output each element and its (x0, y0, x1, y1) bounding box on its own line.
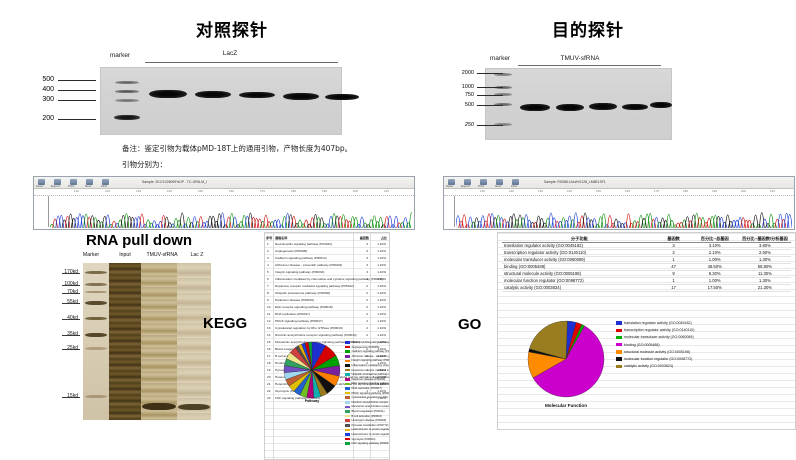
kegg-legend-label: Integrin signaling pathway (P00034) (352, 359, 391, 362)
kegg-legend-swatch (345, 373, 350, 376)
kegg-legend-item: Huntington disease (P00029) (345, 419, 386, 422)
go-cell-gene-count: 1 (657, 278, 691, 285)
kegg-legend-label: Huntington disease (P00029) (352, 419, 387, 422)
panel-target-probe-gel: 目的探针 marker TMUV-sfRNA 2000 1000 750 500… (440, 0, 796, 160)
kegg-legend-swatch (345, 392, 350, 395)
target-sample-band-2 (556, 104, 584, 111)
chromatogram-tick-label: 190 (712, 189, 717, 193)
control-ladder-band-400 (115, 90, 139, 93)
go-cell-pct-total: 1.00% (691, 278, 739, 285)
chromatogram-tick-label: 160 (229, 189, 234, 193)
chromatogram-tick-label: 110 (480, 189, 485, 193)
kegg-legend-label: Heterotrimeric G-protein signaling pathw… (352, 433, 391, 436)
sds-marker-line-40 (62, 319, 80, 320)
kegg-legend-item: Neurotrophin signaling pathway (P04044) (345, 341, 390, 344)
kegg-cell-pct: 1.10% (369, 312, 386, 316)
chromatogram-right-trace (456, 195, 792, 228)
kegg-cell-count: 3 (354, 270, 368, 274)
go-table-row: binding (GO:0005488)4748.50%58.80% (502, 264, 791, 271)
target-ladder-label-500: 500 (448, 102, 474, 108)
sds-page-gel-image (83, 263, 211, 420)
target-ladder-label-1000: 1000 (448, 84, 474, 90)
panel-rna-pull-down: RNA pull down Marker Input TMUV-sfRNA La… (60, 230, 275, 458)
sds-lane-input (109, 263, 141, 420)
kegg-legend-label: Nicotinic acetylcholine receptor signali… (352, 401, 391, 404)
sds-marker-label-15: 15kd (52, 393, 78, 399)
panel-go-analysis[interactable]: 分子功能 基因数 百分比--总基因 百分比--基因数/分析基因 translat… (497, 232, 796, 430)
kegg-table-row: 5Integrin signaling pathway (P00034)31.1… (265, 269, 389, 276)
chromatogram-left[interactable]: Open Export Print Next Find Sample: 2017… (33, 176, 415, 230)
go-legend-item: translation regulator activity (GO:00451… (616, 321, 692, 325)
kegg-cell-count: 2 (354, 298, 368, 302)
kegg-cell-count: 3 (354, 256, 368, 260)
kegg-table-row: 4Alzheimer disease - presenilin pathway … (265, 262, 389, 269)
kegg-legend-item: Integrin signaling pathway (P00034) (345, 359, 390, 362)
chromatogram-right-y-axis (454, 196, 455, 227)
go-table-row: catalytic activity (GO:0003824)1717.50%2… (502, 285, 791, 292)
kegg-cell-index: 4 (267, 263, 269, 267)
kegg-cell-pct: 1.10% (369, 270, 386, 274)
kegg-cell-index: 13 (267, 326, 270, 330)
kegg-cell-pct: 1.10% (369, 256, 386, 260)
kegg-table-row: 6Inflammation mediated by chemokine and … (265, 276, 389, 283)
go-legend-item: molecular transducer activity (GO:006008… (616, 335, 694, 339)
sds-marker-band-100 (85, 283, 107, 286)
kegg-cell-index: 17 (267, 354, 270, 358)
kegg-legend-swatch (345, 364, 350, 367)
kegg-legend-label: Ubiquitin proteasome pathway (P00060) (352, 373, 391, 376)
kegg-cell-index: 10 (267, 305, 270, 309)
chromatogram-tick-label: 150 (596, 189, 601, 193)
sds-marker-line-170 (62, 273, 80, 274)
sds-lacz-band-low (178, 404, 210, 410)
sds-lane-lacz (177, 263, 211, 420)
control-sample-band-2 (195, 91, 231, 98)
kegg-cell-count: 3 (354, 277, 368, 281)
target-ladder-label-750: 750 (448, 92, 474, 98)
kegg-legend-item: Angiogenesis (P00005) (345, 346, 379, 349)
kegg-cell-pct: 1.10% (369, 249, 386, 253)
sds-marker-label-100: 100kd (52, 281, 78, 287)
kegg-cell-index: 18 (267, 361, 270, 365)
panel-control-probe-gel: 对照探针 marker LacZ 500 400 300 200 (0, 0, 430, 160)
kegg-legend-label: Cytoskeletal regulation by Rho GTPase (P… (352, 396, 391, 399)
go-cell-pct-total: 48.50% (691, 264, 739, 271)
go-table-row: transcription regulator activity (GO:014… (502, 250, 791, 257)
kegg-cell-index: 1 (267, 242, 269, 246)
control-gel-sample-label: LacZ (205, 50, 255, 57)
sds-marker-label-40: 40kd (52, 315, 78, 321)
sds-marker-band-15 (85, 395, 107, 398)
kegg-cell-index: 15 (267, 340, 270, 344)
sds-marker-band-70 (85, 291, 107, 293)
go-legend-label: molecular function regulator (GO:0098772… (624, 357, 692, 361)
kegg-cell-name: Ubiquitin proteasome pathway (P00060) (275, 291, 330, 295)
kegg-cell-index: 22 (267, 389, 270, 393)
go-legend-label: translation regulator activity (GO:00451… (624, 321, 692, 325)
kegg-legend-label: Muscarinic acetylcholine receptor signal… (352, 405, 391, 408)
control-ladder-line-300 (58, 100, 96, 101)
kegg-cell-name: Neurotrophin signaling pathway (P04044) (275, 242, 332, 246)
control-ladder-line-200 (58, 119, 96, 120)
kegg-legend-item: Dopamine receptor mediated signaling pat… (345, 369, 390, 372)
go-cell-function: translation regulator activity (GO:00451… (502, 243, 657, 250)
panel-kegg-analysis[interactable]: 序号 通路名称 基因数 占比 1Neurotrophin signaling p… (264, 232, 390, 460)
kegg-cell-pct: 1.10% (369, 326, 386, 330)
chromatogram-tick-label: 120 (105, 189, 110, 193)
kegg-cell-index: 2 (267, 249, 269, 253)
chromatogram-left-sample-name: Sample: 20171026099%GP - TC-GRN-M_I (142, 180, 207, 184)
chromatogram-tick-label: 160 (625, 189, 630, 193)
chromatogram-tick-label: 210 (770, 189, 775, 193)
kegg-cell-name: Alzheimer disease - presenilin pathway (… (275, 263, 342, 267)
kegg-legend-item: B cell activation (P00010) (345, 415, 382, 418)
kegg-legend-swatch (345, 406, 350, 409)
control-ladder-band-500 (115, 81, 139, 84)
kegg-legend-swatch (345, 341, 350, 344)
sds-lane-label-tmuv-sfrna: TMUV-sfRNA (140, 252, 184, 258)
kegg-legend-item: Pyruvate metabolism (P02772) (345, 424, 388, 427)
target-ladder-line-250 (477, 125, 503, 126)
go-cell-gene-count: 17 (657, 285, 691, 292)
go-cell-function: molecular function regulator (GO:0098772… (502, 278, 657, 285)
target-ladder-label-250: 250 (448, 122, 474, 128)
go-legend-label: transcription regulator activity (GO:014… (624, 328, 694, 332)
sds-lane-label-input: Input (112, 252, 138, 258)
target-probe-title: 目的探针 (552, 16, 624, 41)
kegg-cell-count: 4 (354, 242, 368, 246)
kegg-header-name: 通路名称 (275, 235, 287, 240)
kegg-cell-index: 3 (267, 256, 269, 260)
kegg-legend-label: FGF signaling pathway (P00021) (352, 442, 391, 445)
kegg-legend-item: Heterotrimeric G-protein signaling pathw… (345, 428, 390, 431)
kegg-legend-swatch (345, 346, 350, 349)
kegg-cell-index: 9 (267, 298, 269, 302)
sds-marker-label-55: 55kd (52, 299, 78, 305)
kegg-cell-count: 2 (354, 333, 368, 337)
control-ladder-label-500: 500 (30, 76, 54, 83)
chromatogram-tick-label: 180 (291, 189, 296, 193)
target-gel-image (485, 68, 672, 140)
control-gel-sample-underline (145, 62, 338, 63)
go-cell-function: binding (GO:0005488) (502, 264, 657, 271)
chromatogram-left-trace (50, 195, 412, 228)
kegg-table-row: 14Nicotinic acetylcholine receptor signa… (265, 332, 389, 339)
kegg-header-pct: 占比 (371, 235, 387, 240)
kegg-table-row: 7Dopamine receptor mediated signaling pa… (265, 283, 389, 290)
kegg-legend-swatch (345, 433, 350, 436)
kegg-cell-index: 21 (267, 382, 270, 386)
kegg-legend-item: Heterotrimeric G-protein signaling pathw… (345, 433, 390, 436)
sds-marker-label-35: 35kd (52, 331, 78, 337)
kegg-legend-label: Angiogenesis (P00005) (352, 346, 380, 349)
kegg-cell-pct: 1.10% (369, 305, 386, 309)
go-pie-caption: Molecular Function (516, 403, 616, 408)
chromatogram-tick-label: 200 (353, 189, 358, 193)
target-gel-marker-label: marker (480, 55, 520, 62)
go-cell-pct-analyzed: 2.50% (739, 250, 791, 257)
kegg-cell-count: 2 (354, 319, 368, 323)
kegg-legend-swatch (345, 396, 350, 399)
target-sample-band-4 (622, 104, 648, 110)
kegg-cell-pct: 1.10% (369, 284, 386, 288)
go-table-row: translation regulator activity (GO:00451… (502, 243, 791, 250)
go-legend-item: transcription regulator activity (GO:014… (616, 328, 694, 332)
chromatogram-tick-label: 140 (167, 189, 172, 193)
target-ladder-line-2000 (477, 73, 503, 74)
kegg-legend-swatch (345, 415, 350, 418)
kegg-cell-name: DNA replication (P00017) (275, 312, 310, 316)
target-sample-band-5 (650, 102, 672, 108)
rna-pull-down-title: RNA pull down (86, 232, 192, 249)
go-cell-gene-count: 47 (657, 264, 691, 271)
go-cell-pct-total: 3.10% (691, 243, 739, 250)
kegg-cell-name: Dopamine receptor mediated signaling pat… (275, 284, 354, 288)
go-cell-pct-analyzed: 58.80% (739, 264, 791, 271)
kegg-header-index: 序号 (266, 235, 272, 240)
go-legend-swatch (616, 329, 622, 332)
kegg-legend-item: DNA replication (P00017) (345, 387, 382, 390)
sds-marker-line-25 (62, 349, 80, 350)
control-ladder-label-300: 300 (30, 96, 54, 103)
kegg-table-row: 11DNA replication (P00017)21.10% (265, 311, 389, 318)
control-gel-image (100, 67, 342, 135)
go-cell-pct-total: 9.30% (691, 271, 739, 278)
go-legend-label: molecular transducer activity (GO:006008… (624, 335, 694, 339)
go-cell-pct-analyzed: 1.30% (739, 278, 791, 285)
figure-caption-line2: 引物分别为： (122, 159, 167, 170)
kegg-cell-index: 20 (267, 375, 270, 379)
target-ladder-label-2000: 2000 (448, 70, 474, 76)
chromatogram-tick-label: 130 (538, 189, 543, 193)
kegg-legend-swatch (345, 438, 350, 441)
go-cell-function: molecular transducer activity (GO:006008… (502, 257, 657, 264)
go-table-row: molecular function regulator (GO:0098772… (502, 278, 791, 285)
go-legend-swatch (616, 357, 622, 360)
kegg-legend-item: Blood coagulation (P00011) (345, 410, 384, 413)
chromatogram-tick-label: 170 (654, 189, 659, 193)
control-ladder-band-200 (114, 115, 140, 120)
chromatogram-tick-label: 170 (260, 189, 265, 193)
target-gel-sample-label: TMUV-sfRNA (545, 55, 615, 62)
chromatogram-left-y-axis (48, 196, 49, 227)
chromatogram-tick-label: 110 (74, 189, 79, 193)
go-cell-pct-analyzed: 1.30% (739, 257, 791, 264)
kegg-cell-index: 12 (267, 319, 270, 323)
go-cell-function: catalytic activity (GO:0003824) (502, 285, 657, 292)
kegg-legend-label: Neurotrophin signaling pathway (P04044) (352, 341, 391, 344)
kegg-legend-item: PDGF signaling pathway (P00047) (345, 392, 390, 395)
control-probe-title: 对照探针 (196, 16, 268, 41)
kegg-cell-pct: 1.10% (369, 277, 386, 281)
control-sample-band-1 (149, 90, 187, 98)
kegg-legend-label: Pyruvate metabolism (P02772) (352, 424, 389, 427)
control-sample-band-3 (239, 92, 275, 98)
sds-marker-label-25: 25kd (52, 345, 78, 351)
chromatogram-tick-label: 120 (509, 189, 514, 193)
figure-caption-line1: 备注：鉴定引物为载体pMD-18T上的通用引物，产物长度为407bp。 (122, 143, 352, 154)
kegg-legend-label: Parkinson disease (P00049) (352, 378, 386, 381)
kegg-legend-item: FGF signaling pathway (P00021) (345, 442, 390, 445)
kegg-legend-swatch (345, 429, 350, 432)
kegg-table-row: 1Neurotrophin signaling pathway (P04044)… (265, 241, 389, 248)
target-ladder-line-750 (477, 95, 503, 96)
control-ladder-label-200: 200 (30, 115, 54, 122)
go-legend-swatch (616, 365, 622, 368)
kegg-cell-name: Parkinson disease (P00049) (275, 298, 314, 302)
sds-marker-line-35 (62, 335, 80, 336)
control-sample-band-4 (283, 93, 319, 100)
kegg-table-row: 2Angiogenesis (P00005)41.10% (265, 248, 389, 255)
go-cell-pct-analyzed: 3.80% (739, 243, 791, 250)
control-ladder-line-400 (58, 90, 96, 91)
kegg-legend-swatch (345, 355, 350, 358)
kegg-legend-item: EGF receptor signaling pathway (P00018) (345, 382, 390, 385)
kegg-cell-index: 8 (267, 291, 269, 295)
target-ladder-line-500 (477, 105, 503, 106)
kegg-legend-swatch (345, 410, 350, 413)
go-legend-swatch (616, 343, 622, 346)
go-cell-function: structural molecule activity (GO:0005198… (502, 271, 657, 278)
chromatogram-tick-label: 210 (384, 189, 389, 193)
kegg-legend-swatch (345, 378, 350, 381)
go-label: GO (458, 316, 481, 333)
sds-lane-marker (83, 263, 109, 420)
kegg-table-row: 8Ubiquitin proteasome pathway (P00060)21… (265, 290, 389, 297)
kegg-cell-index: 5 (267, 270, 269, 274)
sds-lane-label-lacz: Lac Z (184, 252, 210, 258)
sds-marker-line-70 (62, 293, 80, 294)
kegg-legend-item: Cadherin signaling pathway (P00012) (345, 350, 390, 353)
kegg-legend-swatch (345, 360, 350, 363)
kegg-table-row: 13Cytoskeletal regulation by Rho GTPase … (265, 325, 389, 332)
go-cell-pct-total: 2.10% (691, 250, 739, 257)
kegg-table-header: 序号 通路名称 基因数 占比 (265, 234, 389, 241)
go-cell-pct-total: 1.00% (691, 257, 739, 264)
go-cell-gene-count: 2 (657, 250, 691, 257)
sds-marker-label-70: 70kd (52, 289, 78, 295)
kegg-legend-label: B cell activation (P00010) (352, 415, 382, 418)
go-legend-item: molecular function regulator (GO:0098772… (616, 357, 692, 361)
kegg-legend-swatch (345, 401, 350, 404)
kegg-label: KEGG (203, 315, 247, 332)
control-ladder-line-500 (58, 80, 96, 81)
sds-marker-band-25 (85, 347, 107, 350)
chromatogram-right-sample-name: Sample: RS088-1b1sfV0128_LM8E1SF1 (544, 180, 606, 184)
kegg-cell-index: 14 (267, 333, 270, 337)
kegg-legend-item: Muscarinic acetylcholine receptor signal… (345, 405, 390, 408)
kegg-legend-label: DNA replication (P00017) (352, 387, 382, 390)
chromatogram-tick-label: 140 (567, 189, 572, 193)
sds-marker-label-170: 170kd (52, 269, 78, 275)
target-sample-band-1 (520, 104, 550, 111)
go-pie-chart (526, 319, 606, 399)
sds-marker-band-35 (85, 333, 107, 337)
target-sample-band-3 (589, 103, 617, 110)
go-legend-label: structural molecule activity (GO:0005198… (624, 350, 690, 354)
go-legend-swatch (616, 321, 622, 324)
kegg-cell-name: PDGF signaling pathway (P00047) (275, 319, 323, 323)
kegg-legend-label: Blood coagulation (P00011) (352, 410, 385, 413)
sds-marker-line-55 (62, 303, 80, 304)
kegg-cell-name: Cytoskeletal regulation by Rho GTPase (P… (275, 326, 343, 330)
kegg-legend-swatch (345, 387, 350, 390)
sds-marker-line-15 (62, 397, 80, 398)
go-cell-gene-count: 3 (657, 243, 691, 250)
go-cell-function: transcription regulator activity (GO:014… (502, 250, 657, 257)
sds-marker-band-55 (85, 301, 107, 305)
go-cell-gene-count: 9 (657, 271, 691, 278)
kegg-legend-label: PDGF signaling pathway (P00047) (352, 392, 391, 395)
kegg-legend-label: Dopamine receptor mediated signaling pat… (352, 369, 391, 372)
kegg-legend-swatch (345, 419, 350, 422)
go-table-row: structural molecule activity (GO:0005198… (502, 271, 791, 278)
go-cell-pct-analyzed: 11.30% (739, 271, 791, 278)
kegg-cell-count: 4 (354, 249, 368, 253)
kegg-legend-swatch (345, 383, 350, 386)
kegg-legend-swatch (345, 442, 350, 445)
kegg-cell-count: 3 (354, 263, 368, 267)
kegg-cell-pct: 1.10% (369, 291, 386, 295)
kegg-cell-pct: 1.10% (369, 319, 386, 323)
kegg-pie-caption: Pathway (285, 399, 339, 403)
kegg-cell-count: 2 (354, 312, 368, 316)
sds-marker-line-100 (62, 285, 80, 286)
kegg-cell-name: Cadherin signaling pathway (P00012) (275, 256, 327, 260)
kegg-legend-label: Alzheimer disease - presenilin pathway (… (352, 355, 391, 358)
kegg-header-count: 基因数 (354, 235, 369, 240)
chromatogram-tick-label: 150 (198, 189, 203, 193)
go-legend-item: catalytic activity (GO:0003824) (616, 364, 673, 368)
sds-tmuv-band-low (142, 403, 176, 410)
kegg-cell-index: 11 (267, 312, 270, 316)
control-gel-marker-label: marker (100, 52, 140, 59)
chromatogram-tick-label: 200 (741, 189, 746, 193)
kegg-legend-swatch (345, 350, 350, 353)
sds-marker-band-40 (85, 317, 107, 320)
kegg-table-row: 3Cadherin signaling pathway (P00012)31.1… (265, 255, 389, 262)
target-ladder-line-1000 (477, 87, 503, 88)
kegg-legend-item: Parkinson disease (P00049) (345, 378, 385, 381)
kegg-cell-count: 2 (354, 284, 368, 288)
kegg-cell-pct: 1.10% (369, 298, 386, 302)
kegg-cell-index: 7 (267, 284, 269, 288)
kegg-cell-pct: 1.10% (369, 242, 386, 246)
kegg-cell-name: EGF receptor signaling pathway (P00018) (275, 305, 333, 309)
kegg-legend-item: Cytoskeletal regulation by Rho GTPase (P… (345, 396, 390, 399)
chromatogram-tick-label: 180 (683, 189, 688, 193)
kegg-cell-index: 16 (267, 347, 270, 351)
kegg-legend-label: Inflammation mediated by chemokine and c… (352, 364, 391, 367)
kegg-legend-swatch (345, 424, 350, 427)
kegg-cell-name: Integrin signaling pathway (P00034) (275, 270, 324, 274)
kegg-cell-count: 2 (354, 305, 368, 309)
kegg-cell-name: Angiogenesis (P00005) (275, 249, 307, 253)
kegg-legend-item: Inflammation mediated by chemokine and c… (345, 364, 390, 367)
go-legend-label: catalytic activity (GO:0003824) (624, 364, 673, 368)
kegg-cell-count: 2 (354, 326, 368, 330)
go-molecular-function-table: 分子功能 基因数 百分比--总基因 百分比--基因数/分析基因 translat… (502, 236, 791, 292)
sds-lane-label-marker: Marker (76, 252, 106, 258)
kegg-cell-index: 23 (267, 396, 270, 400)
kegg-legend-label: Cadherin signaling pathway (P00012) (352, 350, 391, 353)
chromatogram-right[interactable]: Open Export Print Next Find Sample: RS08… (443, 176, 795, 230)
kegg-legend-label: Glycolysis (P00024) (352, 438, 376, 441)
kegg-cell-name: Nicotinic acetylcholine receptor signali… (275, 333, 357, 337)
kegg-cell-pct: 1.10% (369, 263, 386, 267)
chromatogram-tick-label: 190 (322, 189, 327, 193)
kegg-table-row: 12PDGF signaling pathway (P00047)21.10% (265, 318, 389, 325)
